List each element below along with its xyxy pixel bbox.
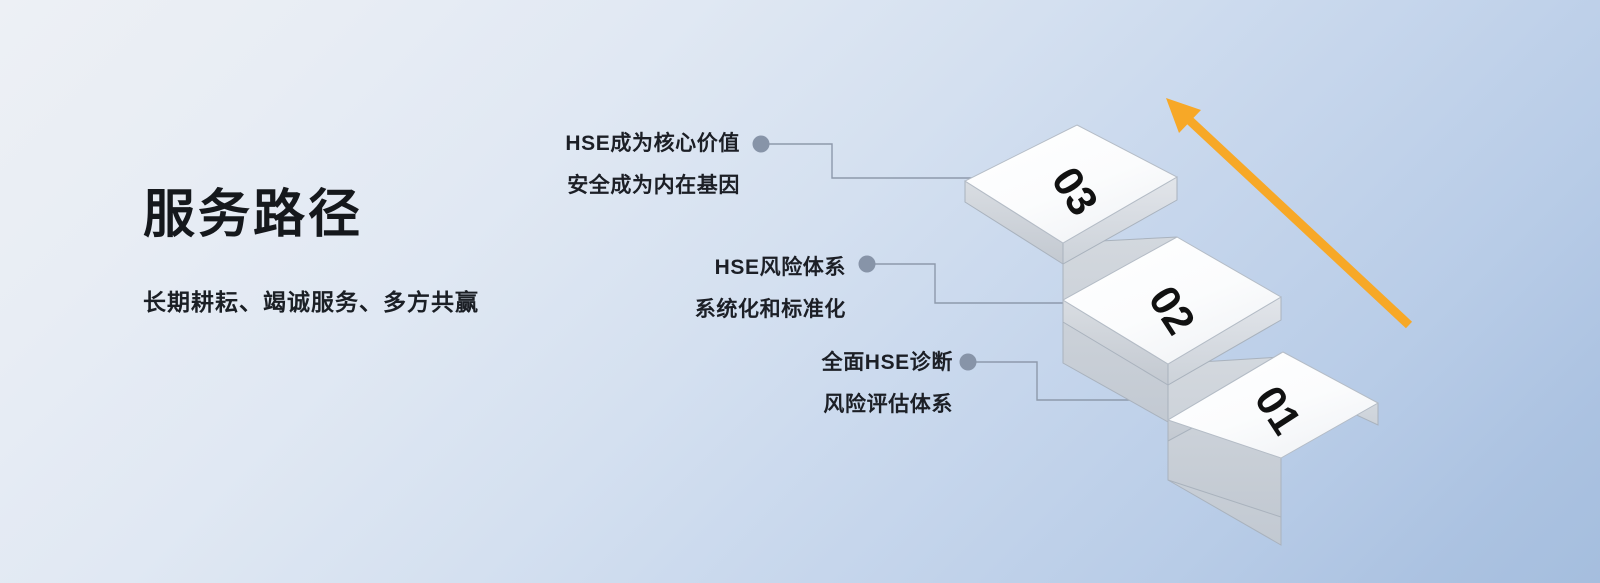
connector-step-03 bbox=[753, 136, 1001, 179]
step-caption-03-line1: HSE成为核心价值 bbox=[360, 133, 740, 154]
step-caption-01: 全面HSE诊断 风险评估体系 bbox=[578, 352, 953, 415]
connector-line-03 bbox=[768, 144, 1000, 178]
step-caption-03-line2: 安全成为内在基因 bbox=[360, 154, 740, 196]
connector-dot-02 bbox=[859, 256, 876, 273]
step-caption-01-line1: 全面HSE诊断 bbox=[578, 352, 953, 373]
step-caption-03: HSE成为核心价值 安全成为内在基因 bbox=[360, 133, 740, 196]
step-caption-01-line2: 风险评估体系 bbox=[578, 373, 953, 415]
step-caption-02-line2: 系统化和标准化 bbox=[468, 278, 846, 320]
slide-canvas: 服务路径 长期耕耘、竭诚服务、多方共赢 bbox=[0, 0, 1600, 583]
connector-dot-03 bbox=[753, 136, 770, 153]
step-caption-02: HSE风险体系 系统化和标准化 bbox=[468, 257, 846, 320]
connector-dot-01 bbox=[960, 354, 977, 371]
step-caption-02-line1: HSE风险体系 bbox=[468, 257, 846, 278]
